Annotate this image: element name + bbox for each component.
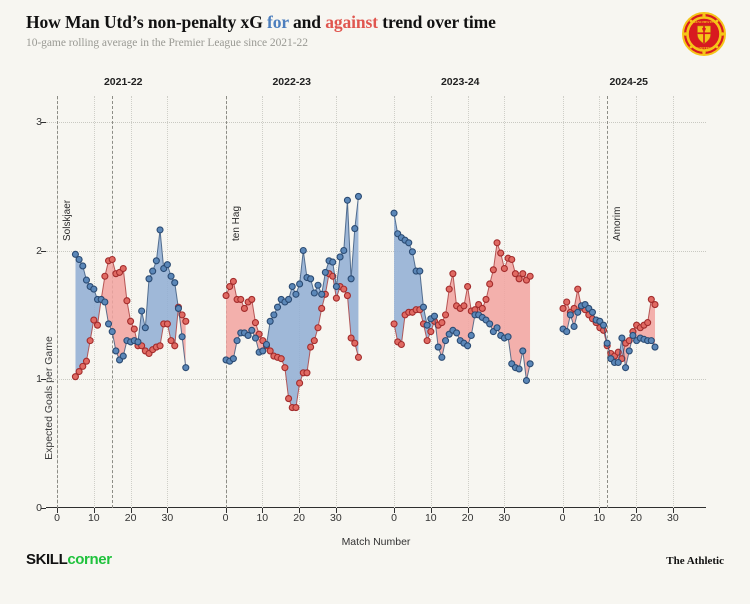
data-point-for	[183, 365, 189, 371]
data-point-against	[443, 312, 449, 318]
data-point-for	[80, 263, 86, 269]
data-point-for	[135, 339, 141, 345]
data-point-for	[417, 268, 423, 274]
facet-series-2024-25	[552, 96, 707, 508]
x-tick-mark	[636, 508, 637, 513]
x-tick-mark	[599, 508, 600, 513]
y-tick-label-1: 1	[26, 374, 42, 384]
data-point-against	[446, 286, 452, 292]
data-point-for	[337, 254, 343, 260]
data-point-for	[406, 240, 412, 246]
data-point-against	[252, 320, 258, 326]
data-point-for	[589, 309, 595, 315]
x-tick-label-20: 20	[456, 512, 480, 524]
x-tick-label-20: 20	[287, 512, 311, 524]
data-point-for	[164, 262, 170, 268]
data-point-against	[230, 278, 236, 284]
x-tick-mark	[504, 508, 505, 513]
svg-text:UNITED: UNITED	[697, 46, 711, 50]
data-point-for	[505, 334, 511, 340]
data-point-against	[241, 305, 247, 311]
x-tick-mark	[563, 508, 564, 513]
x-tick-mark	[673, 508, 674, 513]
data-point-against	[315, 325, 321, 331]
data-point-for	[318, 291, 324, 297]
data-point-for	[91, 286, 97, 292]
data-point-for	[150, 268, 156, 274]
data-point-for	[175, 305, 181, 311]
data-point-against	[183, 318, 189, 324]
data-point-for	[618, 335, 624, 341]
facet-series-2021-22	[46, 96, 201, 508]
data-point-against	[278, 356, 284, 362]
data-point-against	[292, 405, 298, 411]
data-point-against	[131, 326, 137, 332]
data-point-for	[348, 276, 354, 282]
data-point-for	[435, 344, 441, 350]
data-point-for	[153, 258, 159, 264]
y-tick-mark	[41, 508, 46, 509]
data-point-against	[398, 341, 404, 347]
title-part1: How Man Utd’s non-penalty xG	[26, 12, 267, 32]
x-tick-mark	[226, 508, 227, 513]
data-point-for	[443, 338, 449, 344]
data-point-against	[355, 354, 361, 360]
data-point-against	[461, 303, 467, 309]
data-point-for	[322, 269, 328, 275]
data-point-against	[560, 305, 566, 311]
data-point-against	[164, 321, 170, 327]
data-point-against	[307, 344, 313, 350]
data-point-for	[571, 323, 577, 329]
x-tick-mark	[94, 508, 95, 513]
data-point-against	[87, 338, 93, 344]
chart-plot-area: Expected Goals per Game 0123 2021-220102…	[46, 96, 706, 508]
data-point-for	[520, 348, 526, 354]
title-against: against	[325, 12, 378, 32]
data-point-for	[344, 197, 350, 203]
data-point-against	[487, 281, 493, 287]
data-point-for	[259, 348, 265, 354]
data-point-for	[311, 290, 317, 296]
data-point-against	[483, 296, 489, 302]
x-tick-mark	[431, 508, 432, 513]
x-tick-label-10: 10	[419, 512, 443, 524]
data-point-for	[172, 280, 178, 286]
x-tick-label-10: 10	[82, 512, 106, 524]
data-point-for	[234, 338, 240, 344]
y-tick-label-0: 0	[26, 503, 42, 513]
data-point-against	[574, 286, 580, 292]
x-tick-mark	[131, 508, 132, 513]
data-point-for	[409, 249, 415, 255]
x-tick-label-20: 20	[624, 512, 648, 524]
data-point-against	[248, 296, 254, 302]
data-point-for	[432, 313, 438, 319]
data-point-against	[465, 284, 471, 290]
data-point-for	[106, 321, 112, 327]
data-point-against	[223, 293, 229, 299]
data-point-for	[230, 356, 236, 362]
data-point-against	[102, 273, 108, 279]
data-point-against	[318, 305, 324, 311]
x-tick-label-10: 10	[250, 512, 274, 524]
svg-text:MANCHESTER: MANCHESTER	[692, 20, 717, 24]
data-point-against	[285, 396, 291, 402]
data-point-for	[329, 259, 335, 265]
facet-series-2023-24	[383, 96, 538, 508]
logo-corner: corner	[67, 551, 111, 568]
data-point-against	[439, 320, 445, 326]
data-point-against	[281, 365, 287, 371]
data-point-against	[424, 338, 430, 344]
data-point-for	[652, 344, 658, 350]
data-point-for	[355, 193, 361, 199]
data-point-for	[563, 329, 569, 335]
data-point-against	[391, 321, 397, 327]
data-point-for	[574, 309, 580, 315]
x-tick-mark	[167, 508, 168, 513]
data-point-for	[179, 334, 185, 340]
data-point-against	[494, 240, 500, 246]
data-point-against	[479, 305, 485, 311]
data-point-against	[498, 250, 504, 256]
data-point-against	[340, 286, 346, 292]
data-point-for	[468, 332, 474, 338]
x-tick-label-30: 30	[324, 512, 348, 524]
data-point-for	[340, 248, 346, 254]
data-point-for	[267, 318, 273, 324]
data-point-for	[351, 226, 357, 232]
facet-title-2023-24: 2023-24	[383, 76, 538, 88]
data-point-for	[454, 330, 460, 336]
facet-title-2024-25: 2024-25	[552, 76, 707, 88]
data-point-against	[157, 343, 163, 349]
data-point-for	[424, 322, 430, 328]
data-point-for	[292, 291, 298, 297]
data-point-against	[509, 257, 515, 263]
x-tick-mark	[57, 508, 58, 513]
data-point-against	[120, 266, 126, 272]
page-title: How Man Utd’s non-penalty xG for and aga…	[26, 12, 724, 32]
data-point-for	[523, 378, 529, 384]
data-point-for	[120, 353, 126, 359]
facet-series-2022-23	[215, 96, 370, 508]
data-point-for	[146, 276, 152, 282]
data-point-against	[95, 322, 101, 328]
data-point-against	[344, 293, 350, 299]
man-utd-crest-icon: MANCHESTER UNITED	[682, 12, 726, 56]
data-point-for	[102, 299, 108, 305]
data-point-for	[615, 360, 621, 366]
chart-header: How Man Utd’s non-penalty xG for and aga…	[26, 12, 724, 64]
area-for-advantage	[75, 230, 185, 377]
data-point-for	[420, 304, 426, 310]
data-point-for	[333, 284, 339, 290]
x-tick-label-30: 30	[661, 512, 685, 524]
x-tick-mark	[468, 508, 469, 513]
data-point-for	[113, 348, 119, 354]
data-point-against	[428, 329, 434, 335]
facet-panel-2024-25: 2024-250102030Amorim	[552, 96, 707, 508]
data-point-against	[351, 340, 357, 346]
data-point-for	[142, 325, 148, 331]
data-point-for	[139, 308, 145, 314]
data-point-against	[520, 271, 526, 277]
data-point-for	[300, 248, 306, 254]
data-point-against	[652, 302, 658, 308]
data-point-against	[109, 257, 115, 263]
data-point-for	[274, 304, 280, 310]
data-point-against	[333, 295, 339, 301]
data-point-for	[285, 296, 291, 302]
data-point-for	[289, 284, 295, 290]
x-tick-label-0: 0	[214, 512, 238, 524]
data-point-against	[644, 320, 650, 326]
data-point-against	[296, 380, 302, 386]
x-axis-title: Match Number	[46, 536, 706, 548]
data-point-against	[303, 370, 309, 376]
data-point-for	[315, 282, 321, 288]
data-point-for	[307, 276, 313, 282]
publisher-label: The Athletic	[666, 555, 724, 567]
data-point-for	[439, 354, 445, 360]
x-tick-label-10: 10	[587, 512, 611, 524]
data-point-against	[237, 296, 243, 302]
data-point-for	[263, 341, 269, 347]
y-tick-label-3: 3	[26, 117, 42, 127]
x-tick-mark	[394, 508, 395, 513]
data-point-against	[83, 358, 89, 364]
data-point-for	[465, 343, 471, 349]
data-point-for	[109, 329, 115, 335]
x-tick-label-30: 30	[155, 512, 179, 524]
y-tick-label-2: 2	[26, 246, 42, 256]
page-subtitle: 10-game rolling average in the Premier L…	[26, 37, 724, 49]
data-point-for	[494, 325, 500, 331]
logo-skill: SKILL	[26, 551, 67, 568]
data-point-for	[157, 227, 163, 233]
x-tick-mark	[262, 508, 263, 513]
facet-panel-2022-23: 2022-230102030ten Hag	[215, 96, 370, 508]
x-tick-label-20: 20	[119, 512, 143, 524]
title-mid: and	[289, 12, 325, 32]
x-tick-mark	[336, 508, 337, 513]
data-point-against	[124, 298, 130, 304]
x-tick-label-0: 0	[382, 512, 406, 524]
data-point-against	[128, 318, 134, 324]
x-tick-mark	[299, 508, 300, 513]
data-point-for	[296, 281, 302, 287]
data-point-for	[567, 312, 573, 318]
title-for: for	[267, 12, 289, 32]
data-point-for	[622, 365, 628, 371]
data-point-against	[311, 338, 317, 344]
facet-title-2021-22: 2021-22	[46, 76, 201, 88]
skillcorner-logo: SKILLcorner	[26, 551, 112, 568]
data-point-against	[490, 267, 496, 273]
data-point-against	[501, 266, 507, 272]
x-tick-label-30: 30	[492, 512, 516, 524]
facet-panel-2021-22: 2021-220102030Solskjaer	[46, 96, 201, 508]
data-point-for	[516, 366, 522, 372]
data-point-for	[252, 335, 258, 341]
data-point-for	[604, 340, 610, 346]
data-point-for	[168, 273, 174, 279]
data-point-for	[270, 312, 276, 318]
title-part2: trend over time	[378, 12, 496, 32]
data-point-against	[527, 273, 533, 279]
x-tick-label-0: 0	[551, 512, 575, 524]
data-point-for	[391, 210, 397, 216]
data-point-against	[450, 271, 456, 277]
data-point-against	[563, 299, 569, 305]
data-point-for	[626, 348, 632, 354]
data-point-for	[76, 257, 82, 263]
data-point-for	[248, 327, 254, 333]
data-point-for	[83, 277, 89, 283]
data-point-for	[600, 322, 606, 328]
data-point-against	[172, 343, 178, 349]
data-point-for	[648, 338, 654, 344]
facet-title-2022-23: 2022-23	[215, 76, 370, 88]
data-point-for	[527, 361, 533, 367]
facet-panel-2023-24: 2023-240102030	[383, 96, 538, 508]
x-tick-label-0: 0	[45, 512, 69, 524]
data-point-for	[487, 321, 493, 327]
